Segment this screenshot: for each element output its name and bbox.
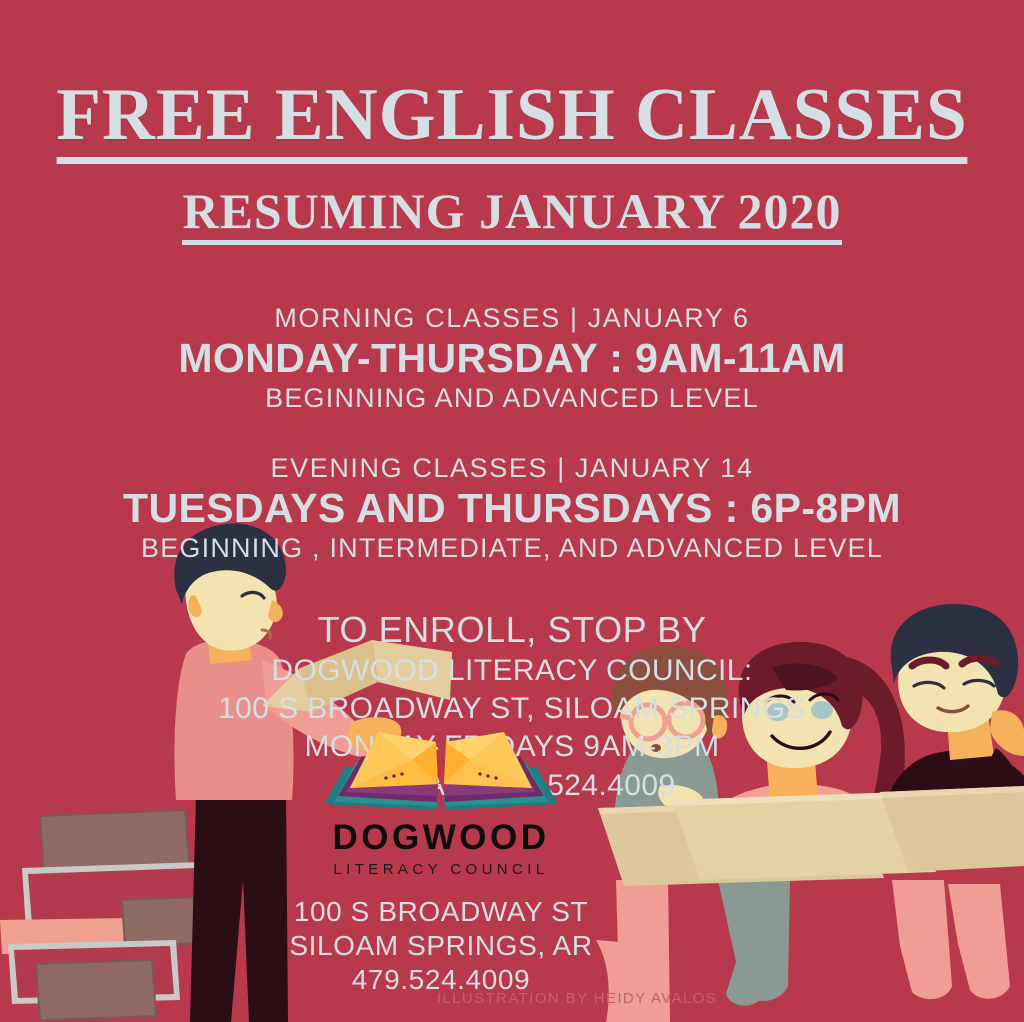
enroll-organization: DOGWOOD LITERACY COUNCIL: <box>0 652 1024 690</box>
page-title-text: FREE ENGLISH CLASSES <box>56 78 967 164</box>
footer-address: 100 S BROADWAY ST SILOAM SPRINGS, AR 479… <box>286 895 596 997</box>
session-morning-schedule: MONDAY-THURSDAY : 9AM-11AM <box>0 334 1024 382</box>
enroll-address: 100 S BROADWAY ST, SILOAM SPRINGS <box>0 690 1024 728</box>
session-morning-head: MORNING CLASSES | JANUARY 6 <box>0 303 1024 334</box>
footer-address-line2: SILOAM SPRINGS, AR <box>286 929 596 963</box>
enroll-heading: TO ENROLL, STOP BY <box>0 607 1024 652</box>
footer-address-line1: 100 S BROADWAY ST <box>286 895 596 929</box>
organization-logo-block: DOGWOOD LITERACY COUNCIL 100 S BROADWAY … <box>286 726 596 997</box>
logo-wordmark: DOGWOOD <box>286 820 596 855</box>
poster-text-content: FREE ENGLISH CLASSES RESUMING JANUARY 20… <box>0 0 1024 805</box>
session-morning: MORNING CLASSES | JANUARY 6 MONDAY-THURS… <box>0 303 1024 415</box>
session-evening-levels: BEGINNING , INTERMEDIATE, AND ADVANCED L… <box>0 532 1024 564</box>
dogwood-book-logo-icon <box>316 726 566 816</box>
illustration-credit: ILLUSTRATION BY HEIDY AVALOS <box>0 990 1024 1007</box>
poster-canvas: FREE ENGLISH CLASSES RESUMING JANUARY 20… <box>0 0 1024 1022</box>
page-subtitle-text: RESUMING JANUARY 2020 <box>182 186 841 245</box>
session-evening-schedule: TUESDAYS AND THURSDAYS : 6P-8PM <box>0 484 1024 532</box>
session-morning-levels: BEGINNING AND ADVANCED LEVEL <box>0 382 1024 414</box>
page-title: FREE ENGLISH CLASSES <box>5 78 1019 164</box>
page-subtitle: RESUMING JANUARY 2020 <box>0 186 1024 245</box>
session-evening: EVENING CLASSES | JANUARY 14 TUESDAYS AN… <box>0 453 1024 565</box>
logo-tagline: LITERACY COUNCIL <box>286 862 596 877</box>
session-evening-head: EVENING CLASSES | JANUARY 14 <box>0 453 1024 484</box>
